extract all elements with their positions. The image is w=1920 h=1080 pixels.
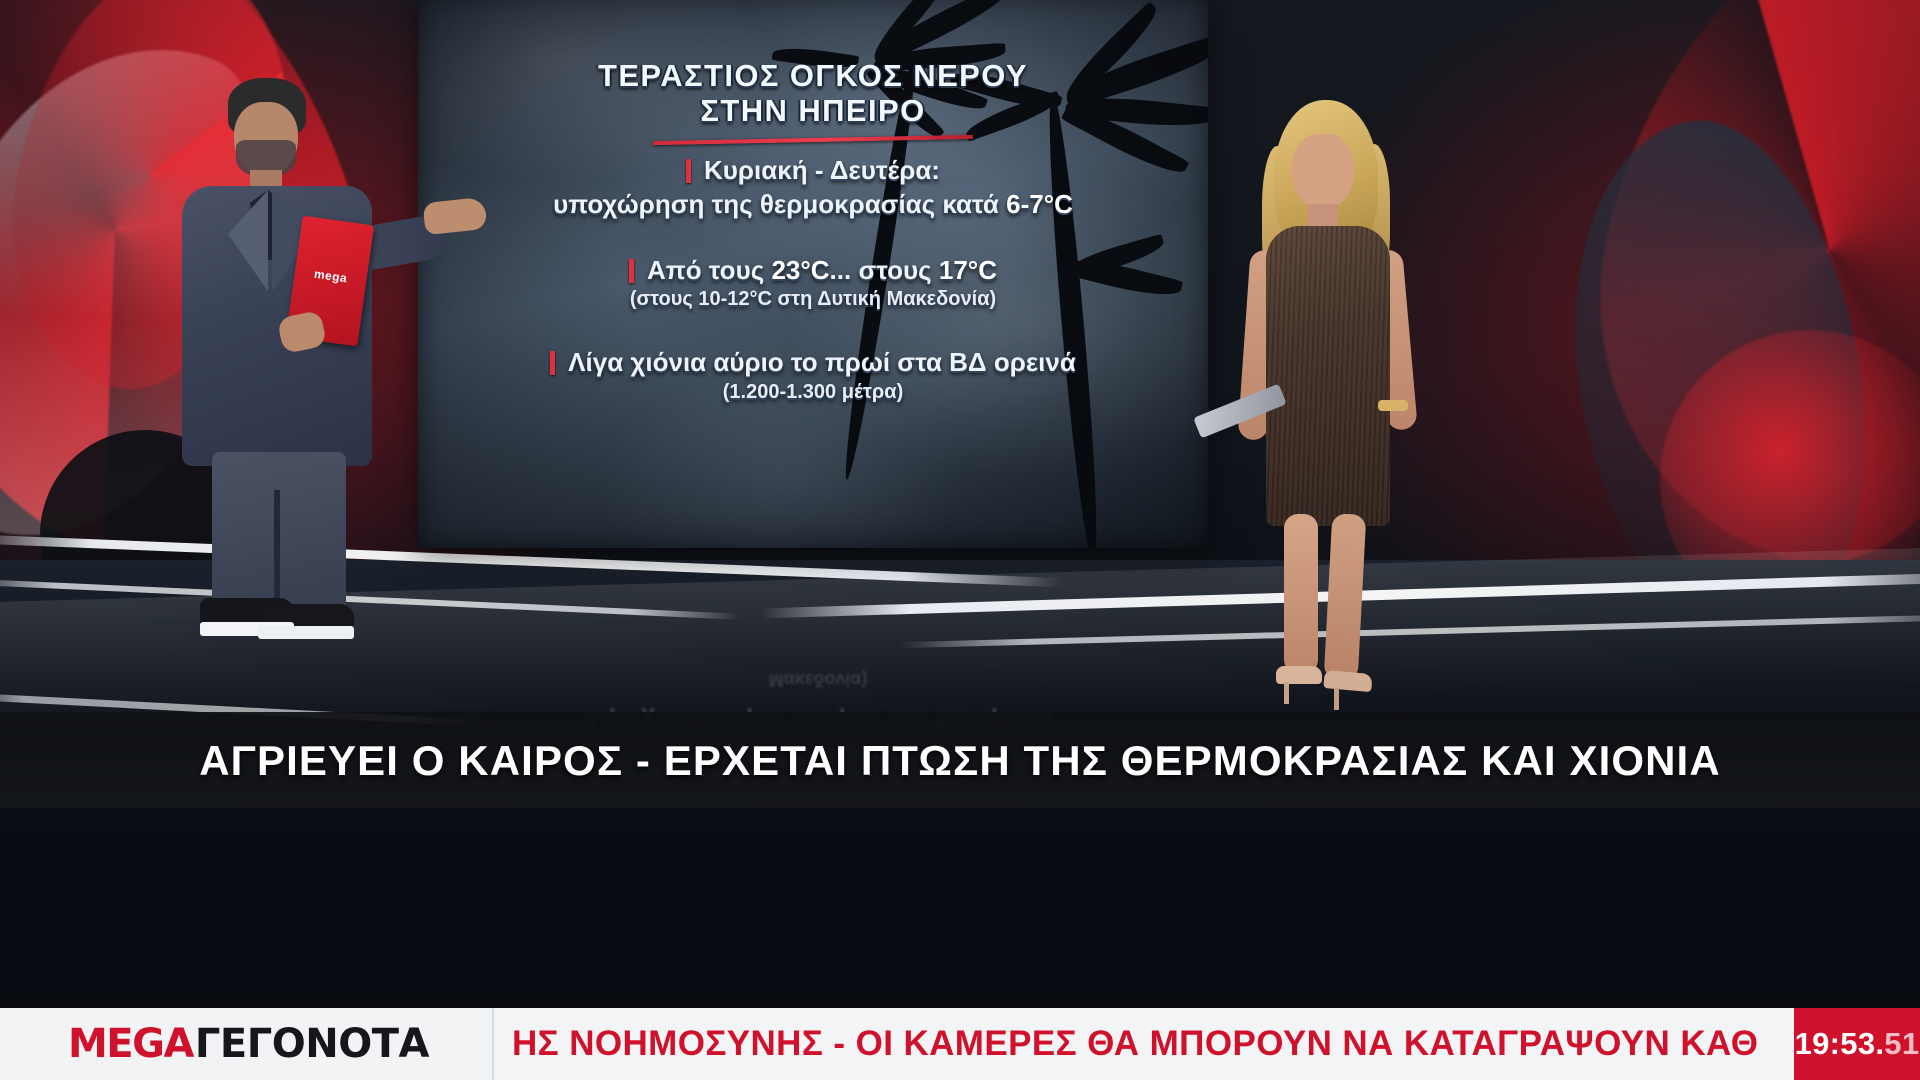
folder-logo-label: mega	[304, 265, 358, 288]
channel-brand-block: MEGA ΓΕΓΟΝΟΤΑ	[0, 1008, 492, 1080]
female-wristwatch	[1378, 400, 1408, 411]
bullet-spacer-2	[418, 312, 1208, 346]
female-dress-texture	[1266, 226, 1390, 526]
female-leg-left	[1284, 514, 1318, 674]
title-underline-rule	[653, 135, 973, 145]
bullet-2-sub: (στους 10-12°C στη Δυτική Μακεδονία)	[418, 287, 1208, 312]
female-shoe-right	[1323, 670, 1372, 692]
weather-bullet-3: Λίγα χιόνια αύριο το πρωί στα ΒΔ ορεινά …	[418, 346, 1208, 405]
female-leg-right	[1324, 513, 1367, 681]
bullet-1-label: Κυριακή - Δευτέρα:	[704, 155, 940, 185]
bullet-2-prefix: Από τους	[647, 255, 771, 285]
weather-bullet-1: Κυριακή - Δευτέρα: υποχώρηση της θερμοκρ…	[418, 154, 1208, 222]
weather-bullet-list: Κυριακή - Δευτέρα: υποχώρηση της θερμοκρ…	[418, 154, 1208, 405]
male-sole-right	[258, 626, 354, 639]
bullet-1-main: Κυριακή - Δευτέρα:	[418, 154, 1208, 188]
bullet-marker-icon	[550, 351, 555, 375]
bullet-1-detail: υποχώρηση της θερμοκρασίας κατά 6-7°C	[418, 188, 1208, 222]
female-shoe-left	[1276, 666, 1322, 684]
news-ticker: MEGA ΓΕΓΟΝΟΤΑ ΗΣ ΝΟΗΜΟΣΥΝΗΣ - ΟΙ ΚΑΜΕΡΕΣ…	[0, 1008, 1920, 1080]
weather-title-line-1: ΤΕΡΑΣΤΙΟΣ ΟΓΚΟΣ ΝΕΡΟΥ	[418, 58, 1208, 93]
studio-video-wall: ΤΕΡΑΣΤΙΟΣ ΟΓΚΟΣ ΝΕΡΟΥ ΣΤΗΝ ΗΠΕΙΡΟ Κυριακ…	[418, 0, 1208, 548]
female-heel-left	[1284, 682, 1289, 704]
clock-time: 19:53.	[1795, 1026, 1885, 1062]
bullet-marker-icon	[686, 159, 691, 183]
bullet-marker-icon	[629, 259, 634, 283]
headline-title: ΑΓΡΙΕΥΕΙ Ο ΚΑΙΡΟΣ - ΕΡΧΕΤΑΙ ΠΤΩΣΗ ΤΗΣ ΘΕ…	[0, 728, 1920, 794]
bullet-1-detail-text: υποχώρηση της θερμοκρασίας κατά	[553, 189, 1006, 219]
bullet-1-detail-value: 6-7°C	[1006, 189, 1073, 219]
bullet-3-sub: (1.200-1.300 μέτρα)	[418, 380, 1208, 405]
female-heel-right	[1334, 688, 1339, 710]
weather-graphic-title: ΤΕΡΑΣΤΙΟΣ ΟΓΚΟΣ ΝΕΡΟΥ ΣΤΗΝ ΗΠΕΙΡΟ	[418, 58, 1208, 128]
gegonota-logo: ΓΕΓΟΝΟΤΑ	[195, 1024, 429, 1064]
bullet-2-value-to: 17°C	[939, 255, 997, 285]
female-face	[1292, 134, 1354, 210]
bullet-2-value-from: 23°C	[771, 255, 829, 285]
bullet-spacer-1	[418, 222, 1208, 254]
weather-title-line-2: ΣΤΗΝ ΗΠΕΙΡΟ	[418, 93, 1208, 128]
mega-logo: MEGA	[68, 1024, 193, 1064]
bullet-3-main: Λίγα χιόνια αύριο το πρωί στα ΒΔ ορεινά	[418, 346, 1208, 380]
presenter-male: mega	[176, 78, 426, 640]
ticker-scroll-region: ΗΣ ΝΟΗΜΟΣΥΝΗΣ - ΟΙ ΚΑΜΕΡΕΣ ΘΑ ΜΠΟΡΟΥΝ ΝΑ…	[494, 1008, 1794, 1080]
bullet-2-main: Από τους 23°C... στους 17°C	[418, 254, 1208, 288]
bullet-2-middle: ... στους	[830, 255, 939, 285]
broadcast-frame: ΤΕΡΑΣΤΙΟΣ ΟΓΚΟΣ ΝΕΡΟΥ ΣΤΗΝ ΗΠΕΙΡΟ Κυριακ…	[0, 0, 1920, 1080]
bullet-3-label: Λίγα χιόνια αύριο το πρωί στα ΒΔ ορεινά	[568, 347, 1076, 377]
clock-seconds: 51	[1884, 1026, 1919, 1062]
ticker-message: ΗΣ ΝΟΗΜΟΣΥΝΗΣ - ΟΙ ΚΑΜΕΡΕΣ ΘΑ ΜΠΟΡΟΥΝ ΝΑ…	[512, 1024, 1758, 1064]
weather-graphic-overlay: ΤΕΡΑΣΤΙΟΣ ΟΓΚΟΣ ΝΕΡΟΥ ΣΤΗΝ ΗΠΕΙΡΟ Κυριακ…	[418, 0, 1208, 548]
on-air-clock: 19:53.51	[1794, 1008, 1920, 1080]
presenter-female	[1232, 100, 1442, 700]
weather-bullet-2: Από τους 23°C... στους 17°C (στους 10-12…	[418, 254, 1208, 313]
